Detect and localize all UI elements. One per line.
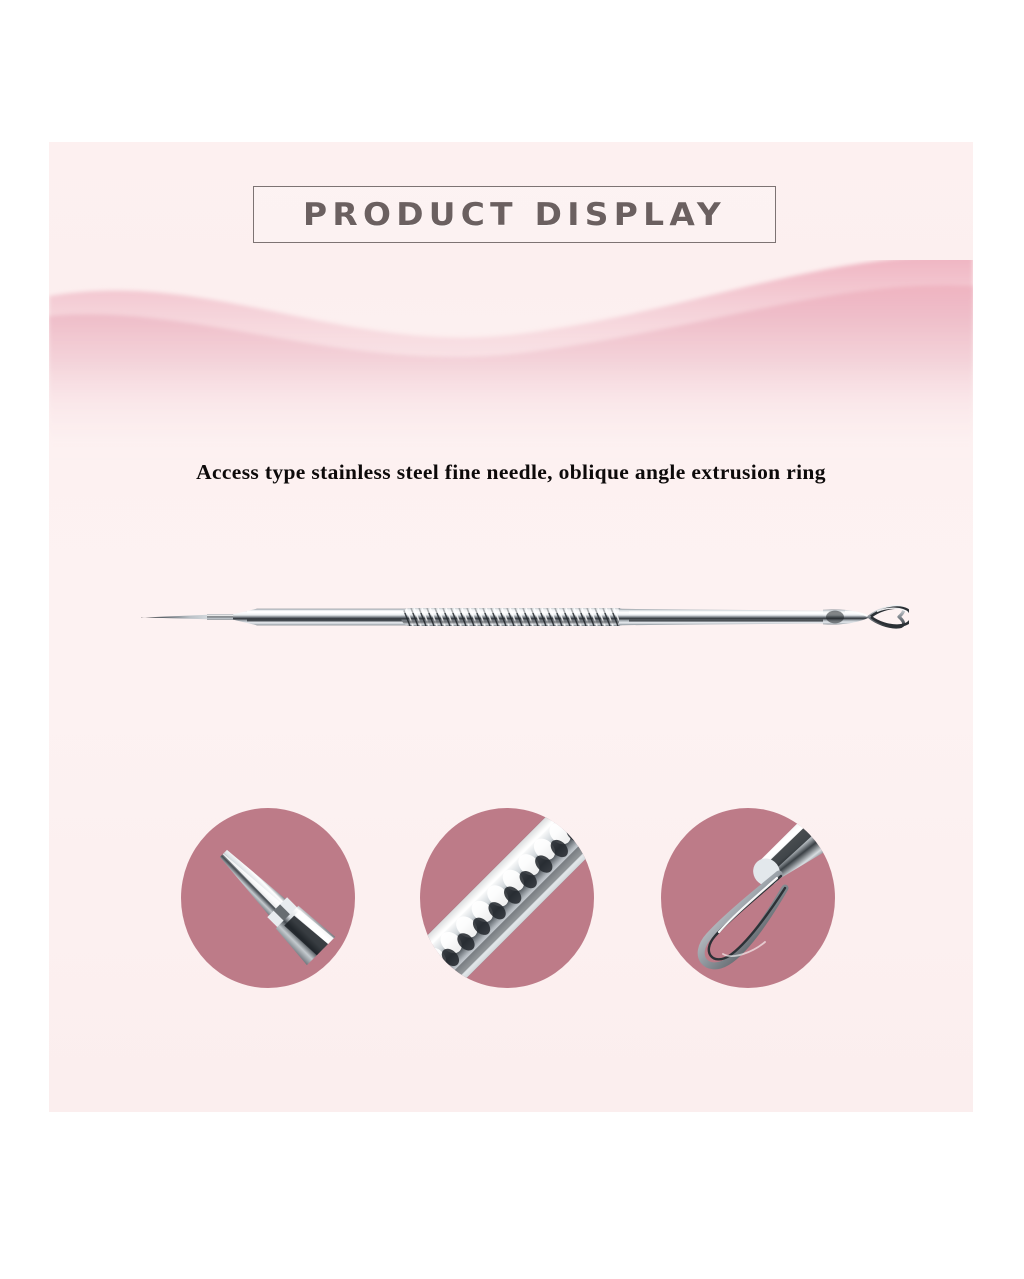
detail-circle-knurled-shaft [420, 808, 594, 988]
detail-circle-needle-tip [181, 808, 355, 988]
page-title: PRODUCT DISPLAY [238, 197, 790, 233]
handle-highlight-right [629, 611, 827, 613]
needle-point [141, 615, 211, 620]
detail-circles-row [49, 808, 973, 998]
title-frame: PRODUCT DISPLAY [253, 186, 776, 243]
handle-shadow-right [629, 620, 827, 622]
wave-svg [49, 260, 973, 460]
decorative-wave [49, 260, 973, 460]
product-tool-image [129, 572, 909, 662]
tool-svg [129, 572, 909, 662]
needle-tip-detail-svg [181, 808, 355, 988]
needle-shaft-thin [207, 614, 237, 620]
handle-barrel-right [619, 609, 829, 625]
detail-circle-extrusion-loop [661, 808, 835, 988]
collar-shadow [826, 611, 844, 624]
product-subtitle: Access type stainless steel fine needle,… [49, 460, 973, 485]
page-root: PRODUCT DISPLAY [0, 0, 1024, 1279]
extrusion-loop-detail-svg [661, 808, 835, 988]
knurled-shaft-detail-svg [420, 808, 594, 988]
wave-layer-front [49, 285, 973, 460]
wave-layer-back [49, 260, 973, 460]
product-display-panel: PRODUCT DISPLAY [49, 142, 973, 1112]
